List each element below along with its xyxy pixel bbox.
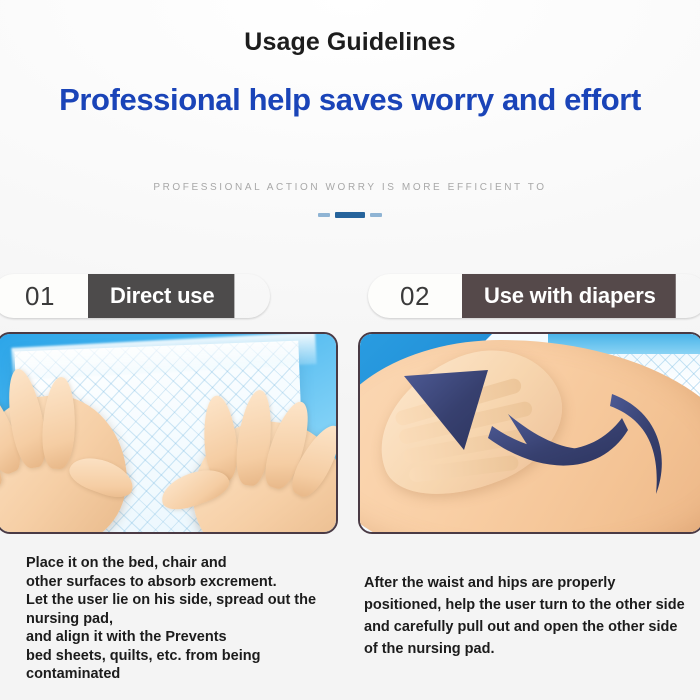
- step-number-01: 01: [0, 274, 88, 318]
- dash-large-center: [335, 212, 365, 218]
- divider-dashes: [0, 212, 700, 218]
- turn-direction-arrow-icon: [360, 334, 700, 532]
- step-image-direct-use: [0, 332, 338, 534]
- step-label-01: Direct use: [66, 274, 234, 318]
- headline: Professional help saves worry and effort: [0, 82, 700, 118]
- step-number-02: 02: [368, 274, 462, 318]
- scene-direct-use: [0, 334, 336, 532]
- step-badge-02[interactable]: 02 Use with diapers: [368, 274, 700, 318]
- scene-use-with-diapers: [360, 334, 700, 532]
- page-title: Usage Guidelines: [0, 28, 700, 57]
- caption-use-with-diapers: After the waist and hips are properly po…: [364, 572, 689, 660]
- step-label-02: Use with diapers: [440, 274, 676, 318]
- usage-guidelines-page: Usage Guidelines Professional help saves…: [0, 0, 700, 700]
- step-image-use-with-diapers: [358, 332, 700, 534]
- dash-small-left: [318, 213, 330, 217]
- dash-small-right: [370, 213, 382, 217]
- subtitle: PROFESSIONAL ACTION WORRY IS MORE EFFICI…: [0, 182, 700, 193]
- step-badge-01[interactable]: 01 Direct use: [0, 274, 270, 318]
- caption-direct-use: Place it on the bed, chair and other sur…: [26, 554, 356, 684]
